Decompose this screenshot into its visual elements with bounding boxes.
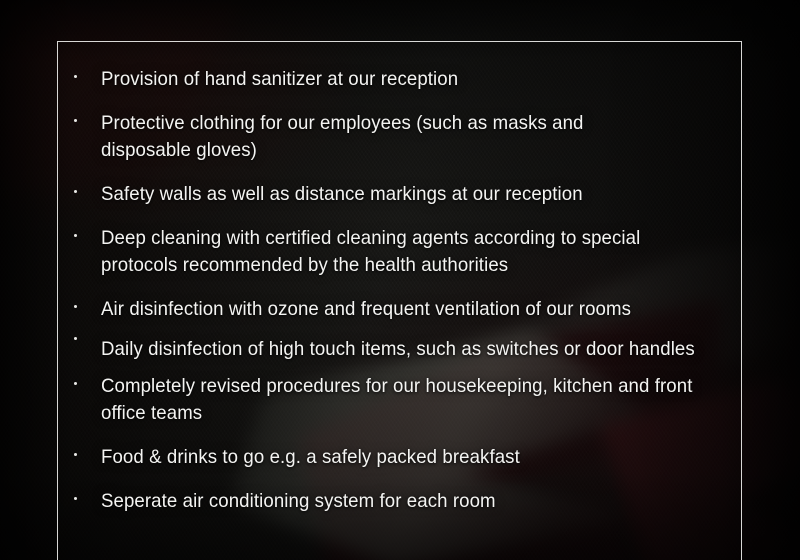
list-item-safety-walls: Safety walls as well as distance marking… <box>70 181 730 208</box>
list-item-text: Provision of hand sanitizer at our recep… <box>101 66 702 93</box>
list-item-text: Air disinfection with ozone and frequent… <box>101 296 702 323</box>
list-item-text: Safety walls as well as distance marking… <box>101 181 702 208</box>
list-item-protective-clothing: Protective clothing for our employees (s… <box>70 110 730 164</box>
slide-canvas: Provision of hand sanitizer at our recep… <box>0 0 800 560</box>
list-item-text: Protective clothing for our employees (s… <box>101 110 702 164</box>
list-item-air-disinfection: Air disinfection with ozone and frequent… <box>70 296 730 323</box>
list-item-food-drinks-to-go: Food & drinks to go e.g. a safely packed… <box>70 444 730 471</box>
list-item-text: Daily disinfection of high touch items, … <box>101 336 702 363</box>
list-item-deep-cleaning: Deep cleaning with certified cleaning ag… <box>70 225 730 279</box>
list-item-revised-procedures: Completely revised procedures for our ho… <box>70 373 730 427</box>
list-item-text: Completely revised procedures for our ho… <box>101 373 702 427</box>
bullet-dot-icon <box>74 497 77 500</box>
bullet-dot-icon <box>74 234 77 237</box>
bullet-dot-icon <box>74 382 77 385</box>
bullet-dot-icon <box>74 453 77 456</box>
bullet-dot-icon <box>74 75 77 78</box>
list-item-separate-air-conditioning: Seperate air conditioning system for eac… <box>70 488 730 515</box>
list-item-text: Deep cleaning with certified cleaning ag… <box>101 225 702 279</box>
hygiene-measures-list: Provision of hand sanitizer at our recep… <box>70 66 730 532</box>
bullet-dot-icon <box>74 305 77 308</box>
bullet-dot-icon <box>74 337 77 340</box>
list-item-text: Food & drinks to go e.g. a safely packed… <box>101 444 702 471</box>
list-item-text: Seperate air conditioning system for eac… <box>101 488 702 515</box>
list-item-hand-sanitizer: Provision of hand sanitizer at our recep… <box>70 66 730 93</box>
bullet-dot-icon <box>74 190 77 193</box>
list-item-daily-disinfection: Daily disinfection of high touch items, … <box>70 336 730 363</box>
bullet-dot-icon <box>74 119 77 122</box>
